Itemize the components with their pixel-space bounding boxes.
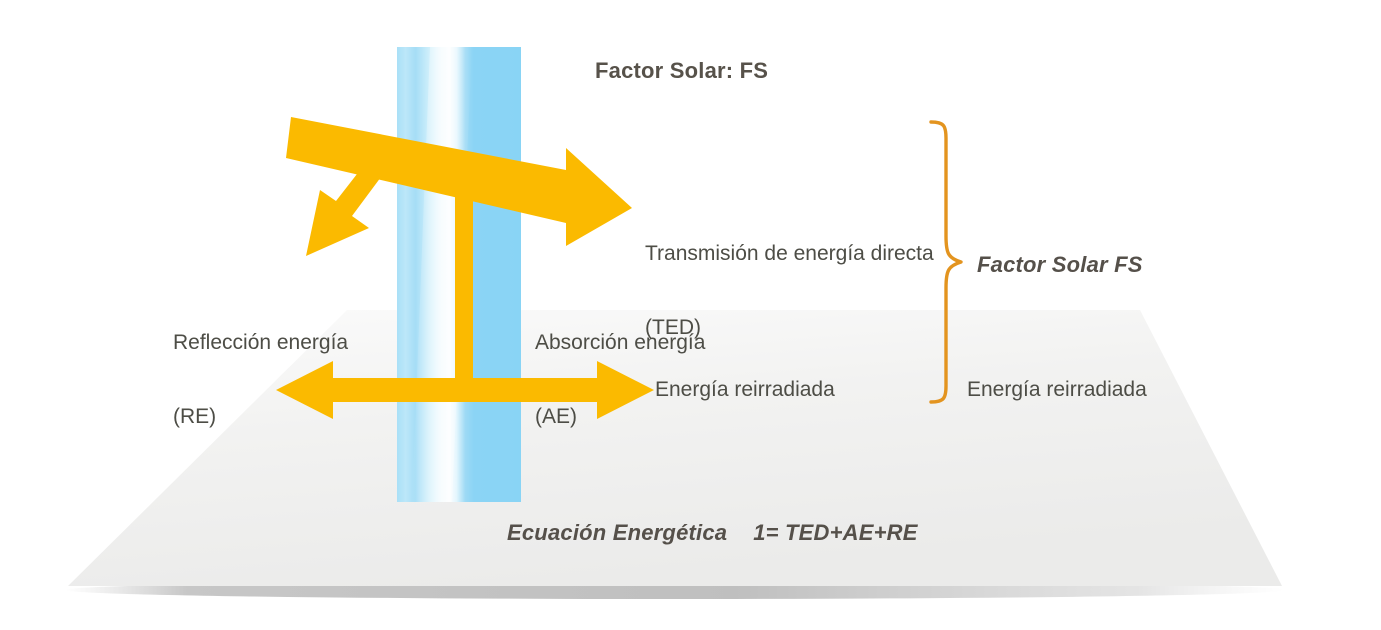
page-title: Factor Solar: FS <box>595 58 768 84</box>
factor-solar-brace <box>931 122 961 402</box>
label-reflection: Reflección energía (RE) <box>173 281 348 479</box>
energy-equation: Ecuación Energética 1= TED+AE+RE <box>507 520 918 546</box>
equation-name: Ecuación Energética <box>507 520 727 546</box>
label-absorption-line2: (AE) <box>535 405 705 430</box>
solar-factor-diagram: Factor Solar: FS Transmisión de energía … <box>0 0 1381 630</box>
label-reradiated-right: Energía reirradiada <box>967 378 1147 403</box>
label-reflection-line2: (RE) <box>173 405 348 430</box>
equation-expression: 1= TED+AE+RE <box>753 520 917 546</box>
label-transmission-line1: Transmisión de energía directa <box>645 242 934 267</box>
label-reflection-line1: Reflección energía <box>173 331 348 356</box>
label-factor-solar-fs: Factor Solar FS <box>977 252 1143 278</box>
label-reradiated-center: Energía reirradiada <box>655 378 835 403</box>
label-absorption-line1: Absorción energía <box>535 331 705 356</box>
